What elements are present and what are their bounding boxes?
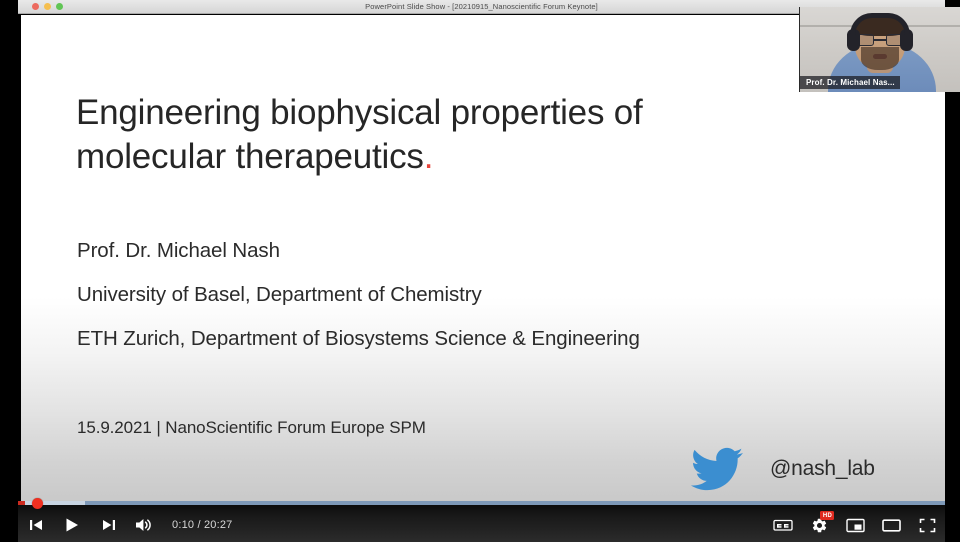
settings-button[interactable]: HD [801,508,837,542]
fullscreen-icon [919,518,936,533]
speaker-name-label: Prof. Dr. Michael Nas... [800,76,900,89]
headphone-band-icon [850,13,910,35]
player-controls[interactable]: 0:10 / 20:27 [18,494,945,542]
glasses-bridge [874,39,886,41]
webcam-speaker-mouth [873,54,887,59]
hd-badge: HD [820,511,834,520]
cc-icon [773,518,793,532]
next-video-button[interactable] [90,508,126,542]
minimize-window-icon[interactable] [44,3,51,10]
controls-row: 0:10 / 20:27 [18,508,945,542]
progress-played [18,501,25,505]
theater-mode-button[interactable] [873,508,909,542]
miniplayer-button[interactable] [837,508,873,542]
speaker-name: Prof. Dr. Michael Nash [77,237,697,264]
slide-title-accent-dot: . [424,137,434,176]
twitter-handle: @nash_lab [770,457,875,481]
letterbox-left [0,0,18,542]
captions-button[interactable] [765,508,801,542]
slide-title-line-1: Engineering biophysical properties of [76,93,643,132]
affiliation-basel: University of Basel, Department of Chemi… [77,281,697,308]
zoom-window-icon[interactable] [56,3,63,10]
affiliation-eth: ETH Zurich, Department of Biosystems Sci… [77,325,697,352]
volume-button[interactable] [126,508,162,542]
twitter-block: @nash_lab [686,443,875,495]
play-button[interactable] [54,508,90,542]
twitter-bird-icon [686,443,748,495]
miniplayer-icon [846,518,865,533]
previous-icon [29,518,44,532]
next-icon [101,518,116,532]
progress-bar[interactable] [18,498,945,507]
traffic-lights [32,3,63,10]
glasses-icon [857,34,903,46]
close-window-icon[interactable] [32,3,39,10]
slide-body: Prof. Dr. Michael Nash University of Bas… [77,237,697,352]
volume-icon [135,517,153,533]
theater-icon [882,518,901,533]
controls-left-group: 0:10 / 20:27 [18,508,233,542]
slide-title: Engineering biophysical properties of mo… [76,91,756,180]
fullscreen-button[interactable] [909,508,945,542]
slide-title-line-2: molecular therapeutics [76,137,424,176]
video-player[interactable]: PowerPoint Slide Show - [20210915_Nanosc… [0,0,960,542]
play-icon [64,517,80,533]
previous-video-button[interactable] [18,508,54,542]
slide-footer-date: 15.9.2021 | NanoScientific Forum Europe … [77,418,426,438]
speaker-webcam-overlay: Prof. Dr. Michael Nas... [799,7,960,92]
controls-right-group: HD [765,508,945,542]
time-display: 0:10 / 20:27 [172,519,233,531]
progress-buffered [18,501,85,505]
progress-track[interactable] [18,501,945,505]
